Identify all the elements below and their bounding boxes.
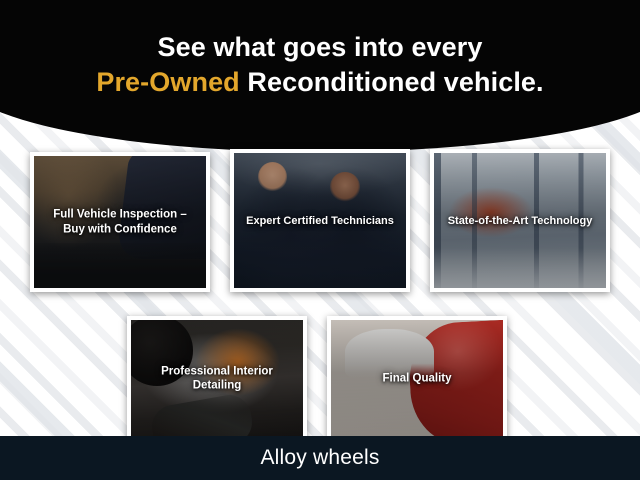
headline-line-1: See what goes into every xyxy=(158,30,483,65)
card-label: Expert Certified Technicians xyxy=(234,213,406,227)
headline-rest-text: Reconditioned vehicle. xyxy=(240,67,544,97)
card-label: Full Vehicle Inspection – Buy with Confi… xyxy=(34,207,206,236)
card-label: State-of-the-Art Technology xyxy=(434,213,606,227)
card-label: Final Quality xyxy=(331,371,503,386)
card-label: Professional Interior Detailing xyxy=(131,364,303,393)
feature-card-state-of-the-art-technology[interactable]: State-of-the-Art Technology xyxy=(430,149,610,292)
hero-header-content: See what goes into every Pre-Owned Recon… xyxy=(0,0,640,152)
feature-card-professional-interior-detailing[interactable]: Professional Interior Detailing xyxy=(127,316,307,441)
bottom-caption-bar: Alloy wheels xyxy=(0,436,640,480)
feature-card-expert-certified-technicians[interactable]: Expert Certified Technicians xyxy=(230,149,410,292)
feature-card-final-quality[interactable]: Final Quality xyxy=(327,316,507,441)
headline-accent-text: Pre-Owned xyxy=(96,67,239,97)
caption-text: Alloy wheels xyxy=(260,446,379,470)
headline-line-2: Pre-Owned Reconditioned vehicle. xyxy=(96,65,543,100)
feature-card-full-vehicle-inspection[interactable]: Full Vehicle Inspection – Buy with Confi… xyxy=(30,152,210,292)
hero-header-panel: See what goes into every Pre-Owned Recon… xyxy=(0,0,640,152)
